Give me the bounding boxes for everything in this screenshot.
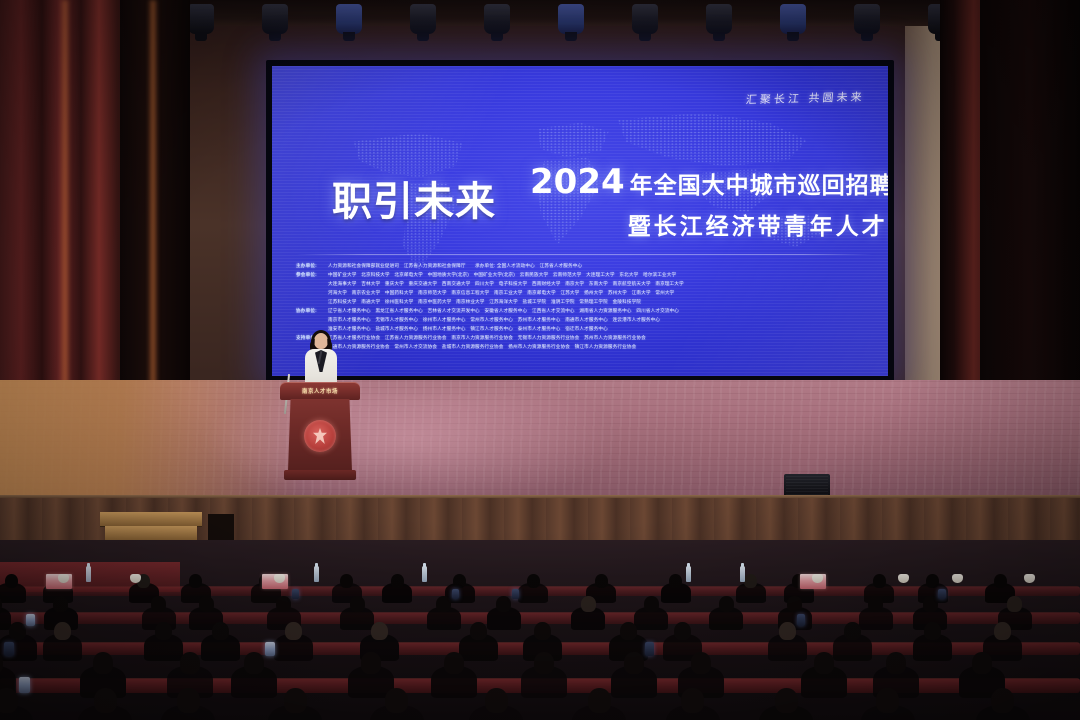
audience-head [787,596,802,612]
audience-head [844,622,861,640]
fineprint-label: 参会单位: [296,271,322,278]
fineprint-text: 中国矿业大学 北京科技大学 北京邮电大学 中国地质大学(北京) 中国矿业大学(北… [328,271,676,278]
attendee-phone [265,642,275,656]
stage-light [484,4,510,34]
audience-head [924,622,941,640]
led-screen: 汇聚长江 共圆未来 职引未来 2024 年全国大中城市巡回招聘江苏站 暨长江经济… [272,66,888,376]
attendee-phone [452,589,459,600]
audience-head [876,688,899,713]
stage-light-pool [200,392,620,512]
stage-light [706,4,732,34]
fineprint-row: 支持单位:江苏省人才服务行业协会 江苏省人力资源服务行业协会 南京市人力资源服务… [296,334,872,341]
water-bottle [314,566,319,582]
audience-head [994,574,1007,588]
fineprint-row: 大连海事大学 吉林大学 重庆大学 重庆交通大学 西南交通大学 四川大学 电子科技… [296,280,872,287]
fineprint-text: 人力资源和社会保障部就业促进司 江苏省人力资源和社会保障厅 承办单位: 全国人才… [328,262,582,269]
fineprint-row: 江苏科技大学 南通大学 徐州医科大学 南京中医药大学 南京林业大学 江苏海洋大学… [296,298,872,305]
attendee-phone [512,589,519,600]
slogan-text: 职引未来 [332,182,496,222]
stage-light [780,4,806,34]
sponsor-fineprint-block: 主办单位:人力资源和社会保障部就业促进司 江苏省人力资源和社会保障厅 承办单位:… [296,254,872,352]
audience-head [54,622,71,640]
attendee-phone [26,614,34,626]
audience-head [485,688,508,713]
attendee-phone [797,614,805,626]
fineprint-row: 南通市人力资源服务行业协会 常州市人才交流协会 盐城市人力资源服务行业协会 扬州… [296,343,872,350]
attendee-phone [4,642,14,656]
audience-head [588,688,611,713]
water-bottle [422,566,427,582]
audience-head [93,652,113,674]
audience-head [470,622,487,640]
attendee-phone [19,677,30,694]
audience-head [155,622,172,640]
audience-head [814,652,834,674]
stage-light [188,4,214,34]
fineprint-text: 辽宁省人才服务中心 黑龙江省人才服务中心 吉林省人才交流开发中心 安徽省人才服务… [328,307,679,314]
fineprint-row: 淮安市人才服务中心 盐城市人才服务中心 扬州市人才服务中心 镇江市人才服务中心 … [296,325,872,332]
audience-head [674,622,691,640]
audience-head [886,652,906,674]
event-year: 2024 [530,162,625,202]
podium-nameplate: 南京人才市场 [292,387,348,395]
audience-head [775,688,798,713]
stage-light [410,4,436,34]
tea-cup [130,574,141,583]
headline-line-1: 年全国大中城市巡回招聘江苏站 [630,166,888,200]
audience-head [595,574,608,588]
attendee-phone [645,642,655,656]
audience-head [340,574,353,588]
audience-head [94,688,117,713]
fineprint-rows: 主办单位:人力资源和社会保障部就业促进司 江苏省人力资源和社会保障厅 承办单位:… [296,262,872,350]
audience-head [534,622,551,640]
fineprint-label: 协办单位: [296,307,322,314]
headline-block: 2024 年全国大中城市巡回招聘江苏站 暨长江经济带青年人才交流会 [530,162,888,241]
fineprint-text: 大连海事大学 吉林大学 重庆大学 重庆交通大学 西南交通大学 四川大学 电子科技… [328,280,684,287]
audience-head [1007,596,1022,612]
tea-cup [58,574,69,583]
audience-head [151,596,166,612]
audience-head [189,574,202,588]
fineprint-text: 江苏省人才服务行业协会 江苏省人力资源服务行业协会 南京市人力资源服务行业协会 … [328,334,646,341]
audience-head [972,652,992,674]
audience-head [361,652,381,674]
tea-cup [274,574,285,583]
fineprint-text: 河海大学 南京农业大学 中国药科大学 南京师范大学 南京信息工程大学 南京工业大… [328,289,674,296]
audience-head [873,574,886,588]
water-bottle [686,566,691,582]
audience-head [691,652,711,674]
audience-head [581,596,596,612]
podium-emblem [304,420,336,452]
audience-head [669,574,682,588]
stage-light [558,4,584,34]
audience-head [620,622,637,640]
calligraphy-text: 汇聚长江 共圆未来 [745,88,865,107]
stage-light [854,4,880,34]
audience-head [527,574,540,588]
audience-head [994,622,1011,640]
fineprint-label: 主办单位: [296,262,322,269]
audience-head [391,574,404,588]
tea-cup [952,574,963,583]
audience-head [53,596,68,612]
audience-area [0,540,1080,720]
audience-head [9,622,26,640]
fineprint-text: 南京市人才服务中心 无锡市人才服务中心 徐州市人才服务中心 常州市人才服务中心 … [328,316,660,323]
audience-head [371,622,388,640]
attendee-phone [292,589,299,600]
audience-head [926,574,939,588]
audience-head [444,652,464,674]
audience-head [744,574,757,588]
audience-head [534,652,554,674]
fineprint-row: 南京市人才服务中心 无锡市人才服务中心 徐州市人才服务中心 常州市人才服务中心 … [296,316,872,323]
led-screen-frame: 汇聚长江 共圆未来 职引未来 2024 年全国大中城市巡回招聘江苏站 暨长江经济… [266,60,894,382]
audience-head [285,622,302,640]
fineprint-row: 参会单位:中国矿业大学 北京科技大学 北京邮电大学 中国地质大学(北京) 中国矿… [296,271,872,278]
audience-head [868,596,883,612]
fineprint-divider [296,254,872,255]
water-bottle [740,566,745,582]
screen-title-block: 职引未来 2024 年全国大中城市巡回招聘江苏站 暨长江经济带青年人才交流会 [332,162,852,241]
audience-head [199,596,214,612]
fineprint-text: 南通市人力资源服务行业协会 常州市人才交流协会 盐城市人力资源服务行业协会 扬州… [328,343,636,350]
stage-light [632,4,658,34]
stage-light [336,4,362,34]
tea-cup [812,574,823,583]
podium-base [284,470,356,480]
headline-line-2: 暨长江经济带青年人才交流会 [530,207,888,241]
audience-head [991,688,1014,713]
audience-head [779,622,796,640]
audience-head [624,652,644,674]
audience-head [453,574,466,588]
audience-head [284,688,307,713]
fineprint-text: 淮安市人才服务中心 盐城市人才服务中心 扬州市人才服务中心 镇江市人才服务中心 … [328,325,608,332]
tea-cup [898,574,909,583]
audience-head [5,574,18,588]
audience-head [496,596,511,612]
audience-head [719,596,734,612]
podium-and-speaker: 南京人才市场 [280,330,360,480]
audience-head [350,596,365,612]
fineprint-row: 主办单位:人力资源和社会保障部就业促进司 江苏省人力资源和社会保障厅 承办单位:… [296,262,872,269]
audience-head [644,596,659,612]
attendee-phone [938,589,945,600]
fineprint-text: 江苏科技大学 南通大学 徐州医科大学 南京中医药大学 南京林业大学 江苏海洋大学… [328,298,641,305]
audience-head [212,622,229,640]
audience-head [180,652,200,674]
audience-head [385,688,408,713]
audience-head [681,688,704,713]
audience-head [177,688,200,713]
audience-head [276,596,291,612]
water-bottle [86,566,91,582]
fineprint-row: 协办单位:辽宁省人才服务中心 黑龙江省人才服务中心 吉林省人才交流开发中心 安徽… [296,307,872,314]
audience-head [0,688,18,713]
audience-head [923,596,938,612]
fineprint-row: 河海大学 南京农业大学 中国药科大学 南京师范大学 南京信息工程大学 南京工业大… [296,289,872,296]
podium: 南京人才市场 [280,382,360,480]
tea-cup [1024,574,1035,583]
audience-head [244,652,264,674]
speaker-head [314,333,328,349]
stage-light [262,4,288,34]
auditorium-photo: 汇聚长江 共圆未来 职引未来 2024 年全国大中城市巡回招聘江苏站 暨长江经济… [0,0,1080,720]
audience-head [436,596,451,612]
